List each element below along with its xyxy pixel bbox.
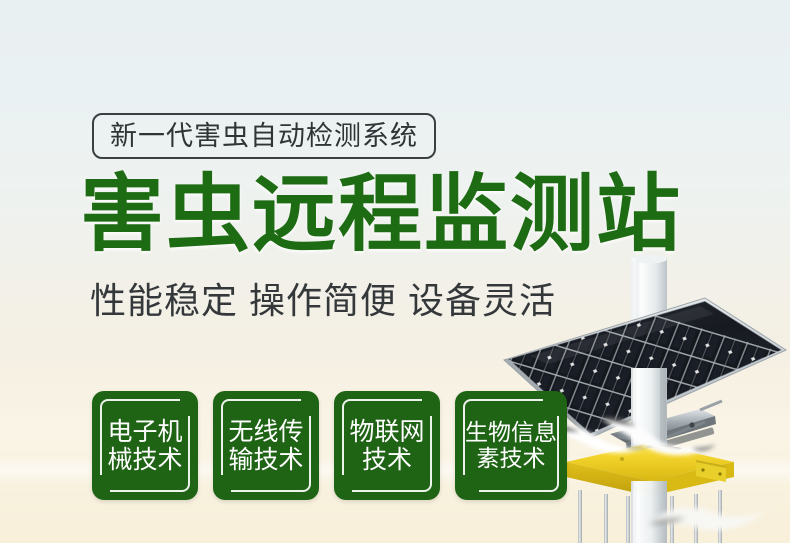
feature-tag-label: 电子机 械技术 [92,418,198,474]
page-subtitle: 性能稳定 操作简便 设备灵活 [90,283,556,319]
feature-tag-label: 无线传 输技术 [213,418,319,474]
bird-center [596,412,722,464]
feature-tag-pheromone[interactable]: 生物信息 素技术 [455,391,567,500]
feature-tag-label: 生物信息 素技术 [455,420,567,472]
feature-tag-wireless-transmission[interactable]: 无线传 输技术 [213,391,319,500]
page-title: 害虫远程监测站 [80,172,682,256]
bird-bottom [640,494,770,543]
feature-tag-label: 物联网 技术 [334,418,440,474]
feature-tag-iot[interactable]: 物联网 技术 [334,391,440,500]
tagline-badge-text: 新一代害虫自动检测系统 [110,123,418,150]
promo-banner: 新一代害虫自动检测系统 害虫远程监测站 性能稳定 操作简便 设备灵活 电子机 械… [0,0,790,543]
tagline-badge: 新一代害虫自动检测系统 [92,113,436,159]
feature-tag-electromechanical[interactable]: 电子机 械技术 [92,391,198,500]
feature-tag-list: 电子机 械技术 无线传 输技术 物联网 技术 生物信息 [92,391,567,500]
